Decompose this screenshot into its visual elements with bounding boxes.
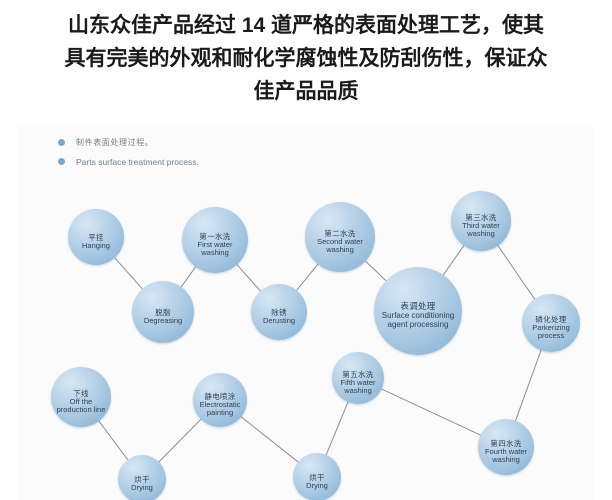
- process-diagram-panel: 制件表面处理过程。 Parts surface treatment proces…: [18, 126, 594, 500]
- flow-node-label-en: Electrostatic painting: [193, 401, 247, 418]
- flow-node-label-en: Drying: [304, 482, 330, 491]
- flow-node-index: 11: [313, 464, 321, 473]
- flow-edge-13-14: [98, 420, 128, 460]
- flow-edge-11-12: [240, 416, 299, 463]
- flow-node-12[interactable]: 12静电喷涂Electrostatic painting: [193, 373, 247, 427]
- flow-node-index: 14: [77, 380, 86, 389]
- flow-node-label-en: Hanging: [80, 242, 112, 251]
- flow-node-label-cn: 表调处理: [400, 302, 435, 311]
- flow-node-label-en: First water washing: [182, 241, 248, 258]
- flow-edge-3-4: [236, 264, 261, 292]
- flow-node-4[interactable]: 4除锈Derusting: [251, 284, 307, 340]
- flow-node-8[interactable]: 8磷化处理Parkerizing process: [522, 294, 580, 352]
- flow-edge-10-11: [326, 401, 349, 456]
- flow-edge-5-6: [365, 260, 387, 281]
- flow-edge-9-10: [381, 389, 482, 436]
- flow-edge-7-8: [497, 245, 535, 300]
- flow-node-1[interactable]: 1平挂Hanging: [68, 209, 124, 265]
- flow-node-index: 4: [277, 299, 281, 308]
- flow-node-3[interactable]: 3第一水洗First water washing: [182, 207, 248, 273]
- page-title: 山东众佳产品经过 14 道严格的表面处理工艺，使其 具有完美的外观和耐化学腐蚀性…: [0, 0, 612, 108]
- flow-edge-8-9: [515, 349, 541, 421]
- flow-node-index: 13: [138, 466, 147, 475]
- flow-node-index: 5: [338, 220, 342, 229]
- flow-edge-1-2: [114, 257, 143, 290]
- flow-node-label-en: Derusting: [261, 317, 297, 326]
- flow-node-label-en: Parkerizing process: [522, 324, 580, 341]
- flow-node-10[interactable]: 10第五水洗Fifth water washing: [332, 352, 384, 404]
- flow-edge-12-13: [158, 419, 202, 463]
- flow-node-index: 10: [354, 361, 363, 370]
- flow-node-index: 1: [94, 224, 98, 233]
- flow-node-index: 9: [504, 430, 508, 439]
- flow-node-index: 2: [161, 299, 165, 308]
- flow-node-2[interactable]: 2脱脂Degreasing: [132, 281, 194, 343]
- page-title-line-2: 具有完美的外观和耐化学腐蚀性及防刮伤性，保证众: [0, 42, 612, 75]
- flow-node-label-en: Surface conditioning agent processing: [374, 311, 462, 330]
- flow-node-5[interactable]: 5第二水洗Second water washing: [305, 202, 375, 272]
- flow-node-label-en: Third water washing: [451, 222, 511, 239]
- flow-node-label-en: Degreasing: [142, 317, 184, 326]
- flow-edge-4-5: [296, 263, 319, 291]
- flow-node-index: 3: [213, 223, 217, 232]
- flow-node-label-en: Drying: [129, 484, 155, 493]
- flow-node-14[interactable]: 14下线Off the production line: [51, 367, 111, 427]
- flow-node-index: 7: [479, 204, 483, 213]
- flow-node-13[interactable]: 13烘干Drying: [118, 455, 166, 500]
- flow-edge-6-7: [443, 245, 465, 276]
- flow-node-label-en: Second water washing: [305, 238, 375, 255]
- flow-node-11[interactable]: 11烘干Drying: [293, 453, 341, 500]
- flow-edge-2-3: [181, 266, 197, 288]
- flow-node-label-en: Off the production line: [51, 398, 111, 415]
- flow-node-7[interactable]: 7第三水洗Third water washing: [451, 191, 511, 251]
- page-title-line-1: 山东众佳产品经过 14 道严格的表面处理工艺，使其: [0, 9, 612, 42]
- flow-node-label-en: Fifth water washing: [332, 379, 384, 396]
- flow-node-label-en: Fourth water washing: [478, 448, 534, 465]
- flow-node-6[interactable]: 6表调处理Surface conditioning agent processi…: [374, 267, 462, 355]
- flow-node-index: 8: [549, 306, 553, 315]
- flow-node-9[interactable]: 9第四水洗Fourth water washing: [478, 419, 534, 475]
- page-title-line-3: 佳产品品质: [0, 75, 612, 108]
- flow-node-index: 12: [216, 383, 225, 392]
